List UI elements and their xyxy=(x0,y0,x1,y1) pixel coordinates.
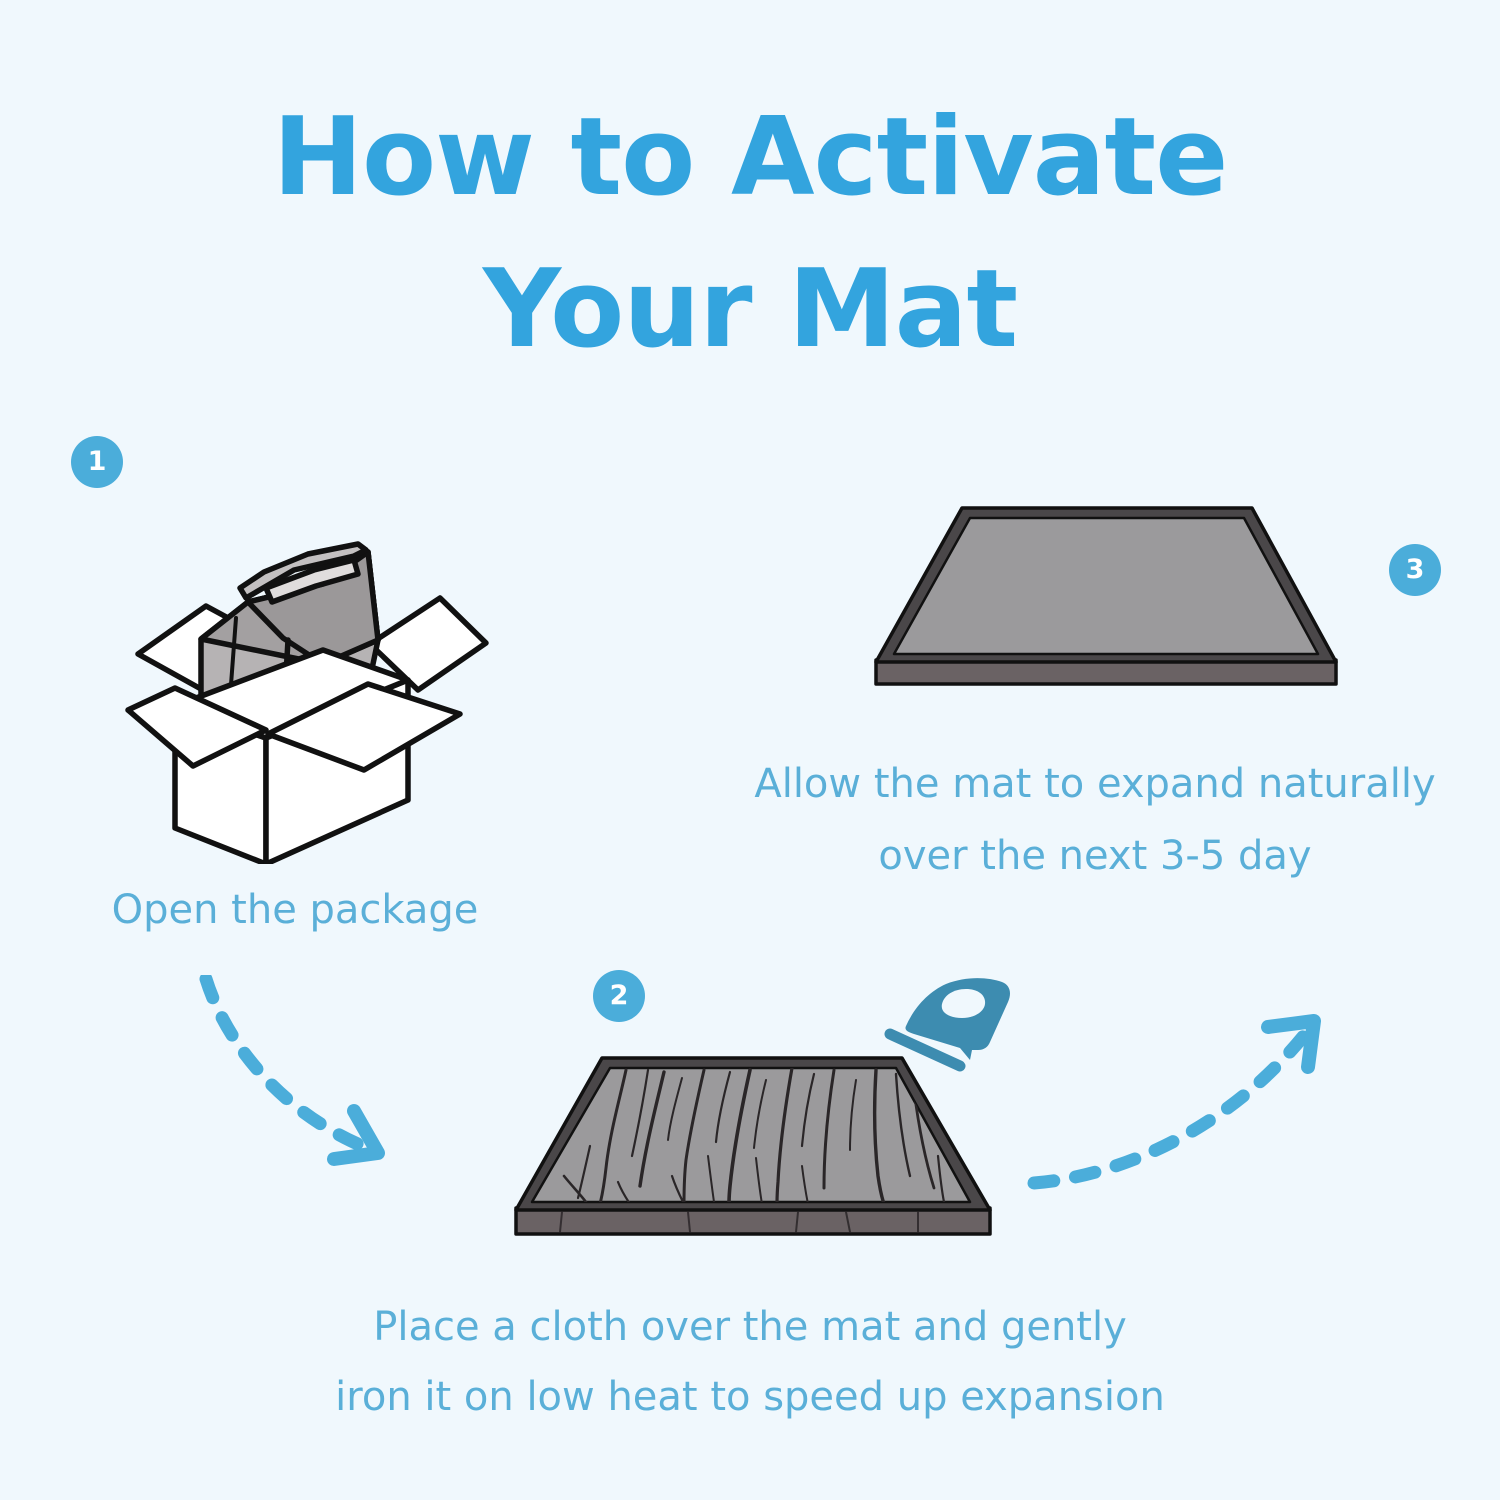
step-3-caption-line-2: over the next 3-5 day xyxy=(690,820,1500,892)
infographic-poster: How to Activate Your Mat 1 2 3 xyxy=(0,0,1500,1500)
dashed-arrow-up-right-icon xyxy=(1018,995,1348,1225)
expanded-mat-illustration xyxy=(866,492,1346,698)
title-line-2: Your Mat xyxy=(0,234,1500,386)
step-2-caption-line-2: iron it on low heat to speed up expansio… xyxy=(260,1362,1240,1432)
step-badge-2: 2 xyxy=(593,970,645,1022)
step-2-caption: Place a cloth over the mat and gently ir… xyxy=(260,1292,1240,1432)
title-line-1: How to Activate xyxy=(0,82,1500,234)
page-title: How to Activate Your Mat xyxy=(0,82,1500,386)
open-package-illustration xyxy=(118,498,498,864)
step-badge-1: 1 xyxy=(71,436,123,488)
step-3-caption: Allow the mat to expand naturally over t… xyxy=(690,748,1500,892)
step-1-caption-line-1: Open the package xyxy=(40,884,550,936)
step-2-caption-line-1: Place a cloth over the mat and gently xyxy=(260,1292,1240,1362)
step-1-caption: Open the package xyxy=(40,884,550,936)
step-3-caption-line-1: Allow the mat to expand naturally xyxy=(690,748,1500,820)
dashed-arrow-down-right-icon xyxy=(178,975,508,1205)
step-badge-3: 3 xyxy=(1389,544,1441,596)
